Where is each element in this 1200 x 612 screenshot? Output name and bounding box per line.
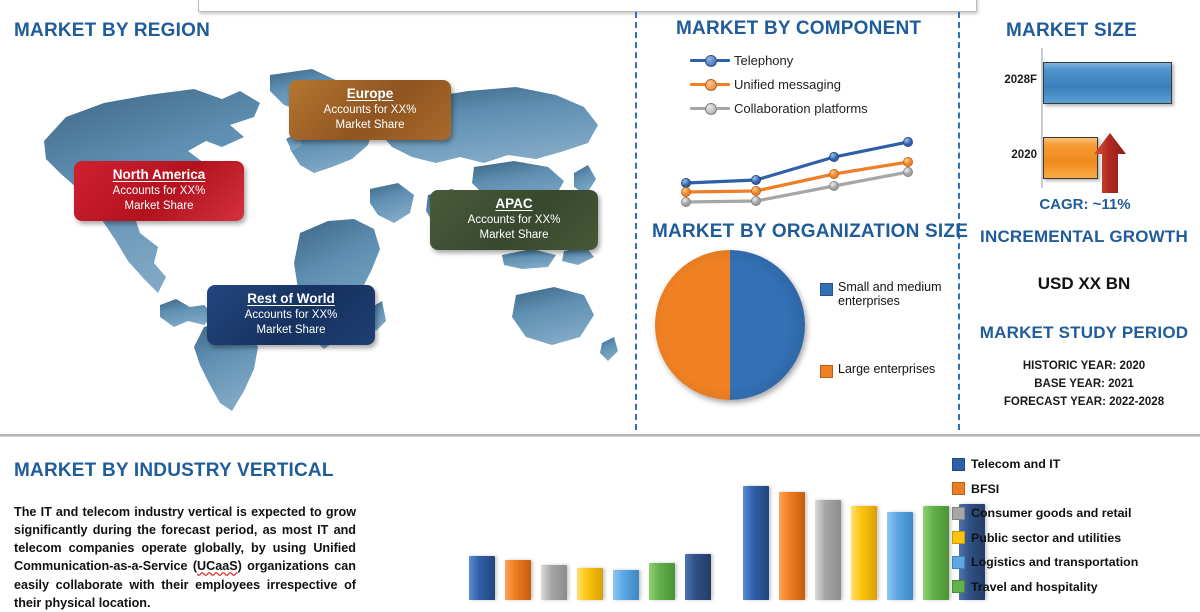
section-title-market-size: MARKET SIZE — [1006, 20, 1137, 42]
industry-bar-chart — [455, 470, 925, 600]
legend-item[interactable]: Consumer goods and retail — [952, 501, 1200, 526]
bar-group1-telecom-and-it — [469, 556, 495, 600]
map-pin-line1: Accounts for XX% — [84, 184, 234, 199]
map-pin-line2: Market Share — [217, 323, 365, 338]
bar-2020 — [1043, 137, 1098, 179]
legend-label: Collaboration platforms — [734, 101, 868, 116]
legend-item[interactable]: Small and medium enterprises — [820, 280, 970, 308]
study-historic-year: HISTORIC YEAR: 2020 — [972, 358, 1196, 376]
legend-swatch-icon — [820, 283, 833, 296]
legend-marker-line-icon — [690, 78, 730, 90]
legend-label: BFSI — [971, 482, 999, 496]
section-title-region: MARKET BY REGION — [14, 20, 210, 42]
map-pin-line2: Market Share — [440, 228, 588, 243]
vertical-divider-left — [635, 12, 637, 430]
legend-label: Logistics and transportation — [971, 555, 1138, 569]
legend-item[interactable]: Travel and hospitality — [952, 575, 1200, 600]
infographic-canvas: MARKET BY REGION — [0, 0, 1200, 600]
map-pin-line1: Accounts for XX% — [440, 213, 588, 228]
legend-label: Consumer goods and retail — [971, 506, 1131, 520]
legend-swatch-icon — [952, 482, 965, 495]
industry-legend: Telecom and IT BFSI Consumer goods and r… — [952, 452, 1200, 599]
bar-group2-consumer-goods-and-retail — [815, 500, 841, 600]
bar-group1-logistics-and-transportation — [613, 570, 639, 600]
legend-item[interactable]: BFSI — [952, 477, 1200, 502]
bar-group2-logistics-and-transportation — [887, 512, 913, 600]
legend-label: Small and medium enterprises — [838, 280, 970, 308]
map-pin-line2: Market Share — [84, 199, 234, 214]
growth-arrow-icon — [1093, 132, 1127, 194]
pie-slices — [655, 250, 805, 400]
paragraph-spellcheck-term: UCaaS — [197, 559, 238, 573]
legend-label: Telecom and IT — [971, 457, 1060, 471]
legend-swatch-icon — [952, 531, 965, 544]
map-pin-rest-of-world[interactable]: Rest of World Accounts for XX% Market Sh… — [207, 285, 375, 345]
section-title-org-size: MARKET BY ORGANIZATION SIZE — [652, 221, 968, 243]
map-pin-north-america[interactable]: North America Accounts for XX% Market Sh… — [74, 161, 244, 221]
legend-label: Large enterprises — [838, 362, 935, 376]
legend-item[interactable]: Collaboration platforms — [690, 96, 940, 120]
legend-label: Telephony — [734, 53, 793, 68]
map-pin-apac[interactable]: APAC Accounts for XX% Market Share — [430, 190, 598, 250]
bar-group1-travel-and-hospitality — [649, 563, 675, 600]
bar-group1-bfsi — [505, 560, 531, 600]
series-telephony — [681, 137, 912, 187]
legend-label: Travel and hospitality — [971, 580, 1098, 594]
map-pin-line1: Accounts for XX% — [217, 308, 365, 323]
study-period-list: HISTORIC YEAR: 2020 BASE YEAR: 2021 FORE… — [972, 358, 1196, 411]
bar-group1-consumer-goods-and-retail — [541, 565, 567, 600]
component-line-chart — [668, 128, 928, 210]
bar-group2-bfsi — [779, 492, 805, 600]
legend-item[interactable]: Public sector and utilities — [952, 526, 1200, 551]
section-title-industry-vertical: MARKET BY INDUSTRY VERTICAL — [14, 460, 334, 482]
legend-marker-line-icon — [690, 54, 730, 66]
bar-group1-others — [685, 554, 711, 600]
map-pin-line2: Market Share — [299, 118, 441, 133]
legend-swatch-icon — [952, 580, 965, 593]
section-title-incremental-growth: INCREMENTAL GROWTH — [972, 227, 1196, 247]
map-pin-europe[interactable]: Europe Accounts for XX% Market Share — [289, 80, 451, 140]
bar-group2-public-sector-and-utilities — [851, 506, 877, 600]
cagr-label: CAGR: ~11% — [985, 196, 1185, 213]
axis-label-2020: 2020 — [985, 149, 1037, 161]
legend-item[interactable]: Telecom and IT — [952, 452, 1200, 477]
series-collaboration-platforms — [681, 167, 912, 206]
legend-swatch-icon — [820, 365, 833, 378]
horizontal-divider — [0, 434, 1200, 437]
legend-swatch-icon — [952, 458, 965, 471]
legend-item[interactable]: Large enterprises — [820, 362, 970, 378]
market-size-bar-chart: 2028F 2020 — [985, 48, 1185, 198]
legend-swatch-icon — [952, 507, 965, 520]
org-size-legend: Small and medium enterprises Large enter… — [820, 280, 970, 378]
org-size-pie-chart — [655, 250, 815, 410]
bar-group1-public-sector-and-utilities — [577, 568, 603, 600]
bar-2028f — [1043, 62, 1172, 104]
section-title-component: MARKET BY COMPONENT — [676, 18, 921, 40]
legend-item[interactable]: Unified messaging — [690, 72, 940, 96]
map-pin-name: Europe — [299, 85, 441, 102]
section-title-study-period: MARKET STUDY PERIOD — [972, 323, 1196, 343]
legend-marker-line-icon — [690, 102, 730, 114]
component-legend: Telephony Unified messaging Collaboratio… — [690, 48, 940, 120]
bar-group2-telecom-and-it — [743, 486, 769, 600]
legend-item[interactable]: Logistics and transportation — [952, 550, 1200, 575]
axis-label-2028f: 2028F — [985, 74, 1037, 86]
map-pin-line1: Accounts for XX% — [299, 103, 441, 118]
study-base-year: BASE YEAR: 2021 — [972, 376, 1196, 394]
study-forecast-year: FORECAST YEAR: 2022-2028 — [972, 394, 1196, 412]
legend-label: Public sector and utilities — [971, 531, 1121, 545]
incremental-growth-value: USD XX BN — [972, 274, 1196, 294]
legend-swatch-icon — [952, 556, 965, 569]
map-pin-name: APAC — [440, 195, 588, 212]
map-pin-name: Rest of World — [217, 290, 365, 307]
top-partial-box — [198, 0, 977, 12]
industry-paragraph: The IT and telecom industry vertical is … — [14, 503, 356, 612]
world-map: North America Accounts for XX% Market Sh… — [8, 55, 628, 425]
bar-group2-travel-and-hospitality — [923, 506, 949, 600]
legend-item[interactable]: Telephony — [690, 48, 940, 72]
legend-label: Unified messaging — [734, 77, 841, 92]
map-pin-name: North America — [84, 166, 234, 183]
